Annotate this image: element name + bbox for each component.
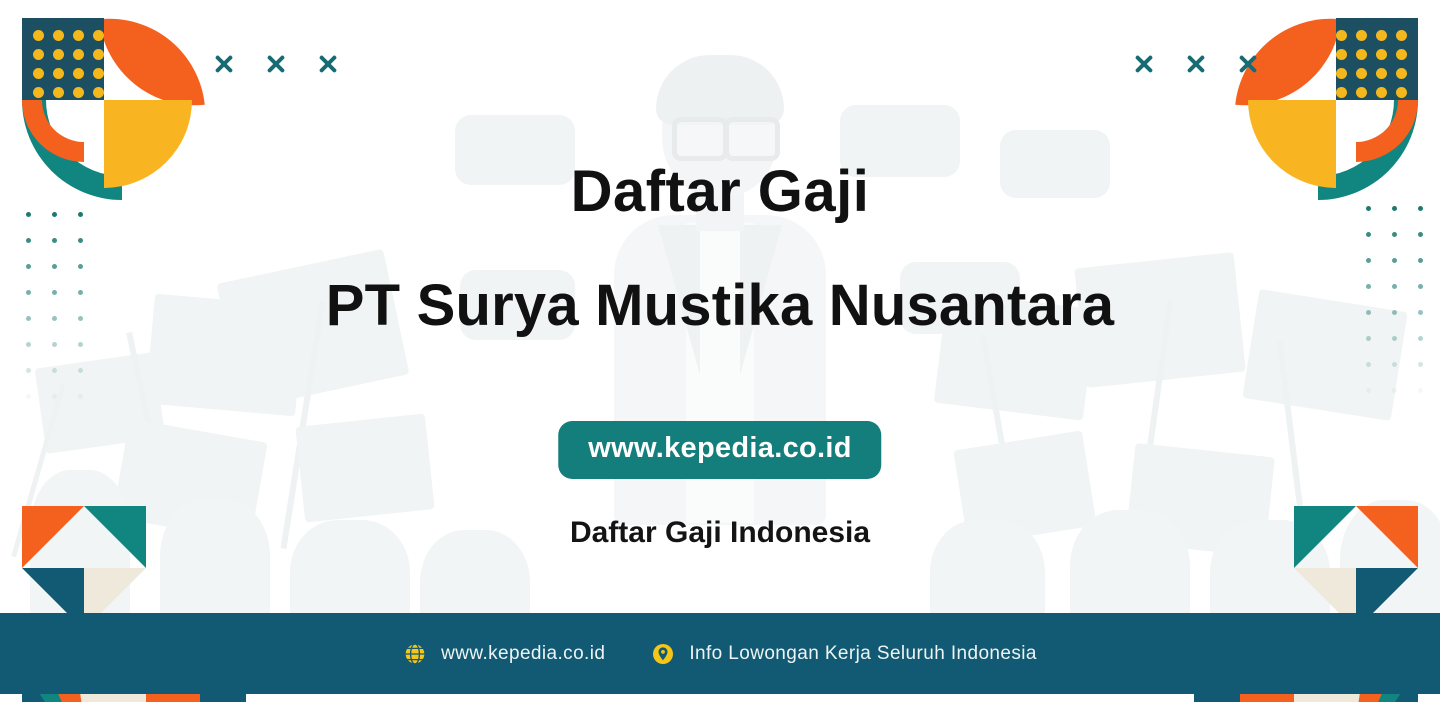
bg-flag <box>295 413 434 522</box>
url-badge[interactable]: www.kepedia.co.id <box>558 421 881 479</box>
orange-triangle <box>22 506 84 568</box>
dot <box>1418 232 1423 237</box>
dot <box>52 394 57 399</box>
footer-info-label: Info Lowongan Kerja Seluruh Indonesia <box>689 643 1037 665</box>
orange-triangle <box>1356 506 1418 568</box>
background-photo <box>0 0 1440 720</box>
dot <box>1392 388 1397 393</box>
x-icon <box>317 53 339 75</box>
x-icon <box>1185 53 1207 75</box>
orange-petal <box>99 9 205 115</box>
orange-arc <box>1356 100 1418 162</box>
dot <box>26 342 31 347</box>
dot <box>26 368 31 373</box>
dot <box>1366 388 1371 393</box>
dot <box>52 264 57 269</box>
footer-item-website[interactable]: www.kepedia.co.id <box>403 642 605 666</box>
teal-triangle <box>84 506 146 568</box>
dot <box>26 264 31 269</box>
dot <box>1392 362 1397 367</box>
dot <box>1392 258 1397 263</box>
dot <box>1418 388 1423 393</box>
dot <box>52 368 57 373</box>
footer-website-label: www.kepedia.co.id <box>441 643 605 665</box>
dot <box>78 264 83 269</box>
dot <box>1366 362 1371 367</box>
dot <box>52 342 57 347</box>
dot <box>78 238 83 243</box>
orange-arc <box>22 100 84 162</box>
dot <box>26 238 31 243</box>
x-icon <box>1133 53 1155 75</box>
company-title: PT Surya Mustika Nusantara <box>0 272 1440 339</box>
page-subtitle: Daftar Gaji Indonesia <box>0 516 1440 550</box>
globe-icon <box>403 642 427 666</box>
location-pin-icon <box>651 642 675 666</box>
dot <box>78 342 83 347</box>
x-icon <box>265 53 287 75</box>
dot <box>1418 362 1423 367</box>
poster-canvas: Daftar Gaji PT Surya Mustika Nusantara w… <box>0 0 1440 720</box>
dot <box>52 238 57 243</box>
footer-bar: www.kepedia.co.id Info Lowongan Kerja Se… <box>0 613 1440 694</box>
dot <box>1366 232 1371 237</box>
dot <box>78 394 83 399</box>
teal-triangle <box>1294 506 1356 568</box>
x-marks-right <box>1133 53 1259 75</box>
page-title: Daftar Gaji <box>0 158 1440 225</box>
footer-item-info[interactable]: Info Lowongan Kerja Seluruh Indonesia <box>651 642 1037 666</box>
dot <box>1366 258 1371 263</box>
dot <box>1418 258 1423 263</box>
dot-square <box>1336 18 1418 100</box>
dot <box>1392 232 1397 237</box>
x-icon <box>213 53 235 75</box>
dot-square <box>22 18 104 100</box>
dot <box>26 394 31 399</box>
x-icon <box>1237 53 1259 75</box>
x-marks-left <box>213 53 339 75</box>
dot <box>78 368 83 373</box>
